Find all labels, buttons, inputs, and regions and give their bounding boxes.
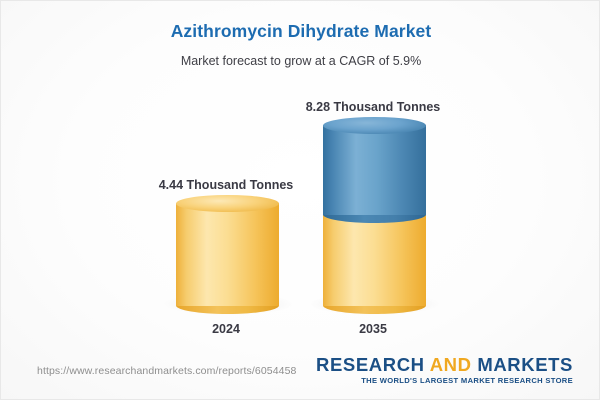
brand-word-markets: MARKETS (477, 354, 573, 375)
cylinder-top-cap-2024 (176, 195, 279, 212)
chart-plot-area: 4.44 Thousand Tonnes 2024 8.28 Thousand … (1, 1, 600, 349)
cylinder-body-growth-2035 (323, 125, 426, 215)
cylinder-2024 (176, 203, 279, 306)
report-url-link[interactable]: https://www.researchandmarkets.com/repor… (37, 365, 296, 377)
cylinder-body-base-2035 (323, 215, 426, 306)
cylinder-body-2024 (176, 203, 279, 306)
category-label-2035: 2035 (293, 322, 453, 336)
cylinder-segment-base-2024[interactable] (176, 203, 279, 306)
bar-value-label-2024: 4.44 Thousand Tonnes (96, 178, 356, 192)
research-and-markets-logo[interactable]: RESEARCH AND MARKETS THE WORLD'S LARGEST… (316, 355, 573, 385)
category-label-2024: 2024 (146, 322, 306, 336)
brand-wordmark: RESEARCH AND MARKETS (316, 355, 573, 374)
cylinder-segment-growth-2035[interactable] (323, 125, 426, 215)
brand-word-research: RESEARCH (316, 354, 425, 375)
cylinder-2035 (323, 125, 426, 306)
footer: https://www.researchandmarkets.com/repor… (1, 347, 600, 399)
bar-value-label-2035: 8.28 Thousand Tonnes (243, 100, 503, 114)
cylinder-top-cap-2035 (323, 117, 426, 134)
chart-card: Azithromycin Dihydrate Market Market for… (0, 0, 600, 400)
brand-tagline: THE WORLD'S LARGEST MARKET RESEARCH STOR… (316, 376, 573, 385)
cylinder-segment-base-2035[interactable] (323, 215, 426, 306)
brand-word-and: AND (430, 354, 472, 375)
